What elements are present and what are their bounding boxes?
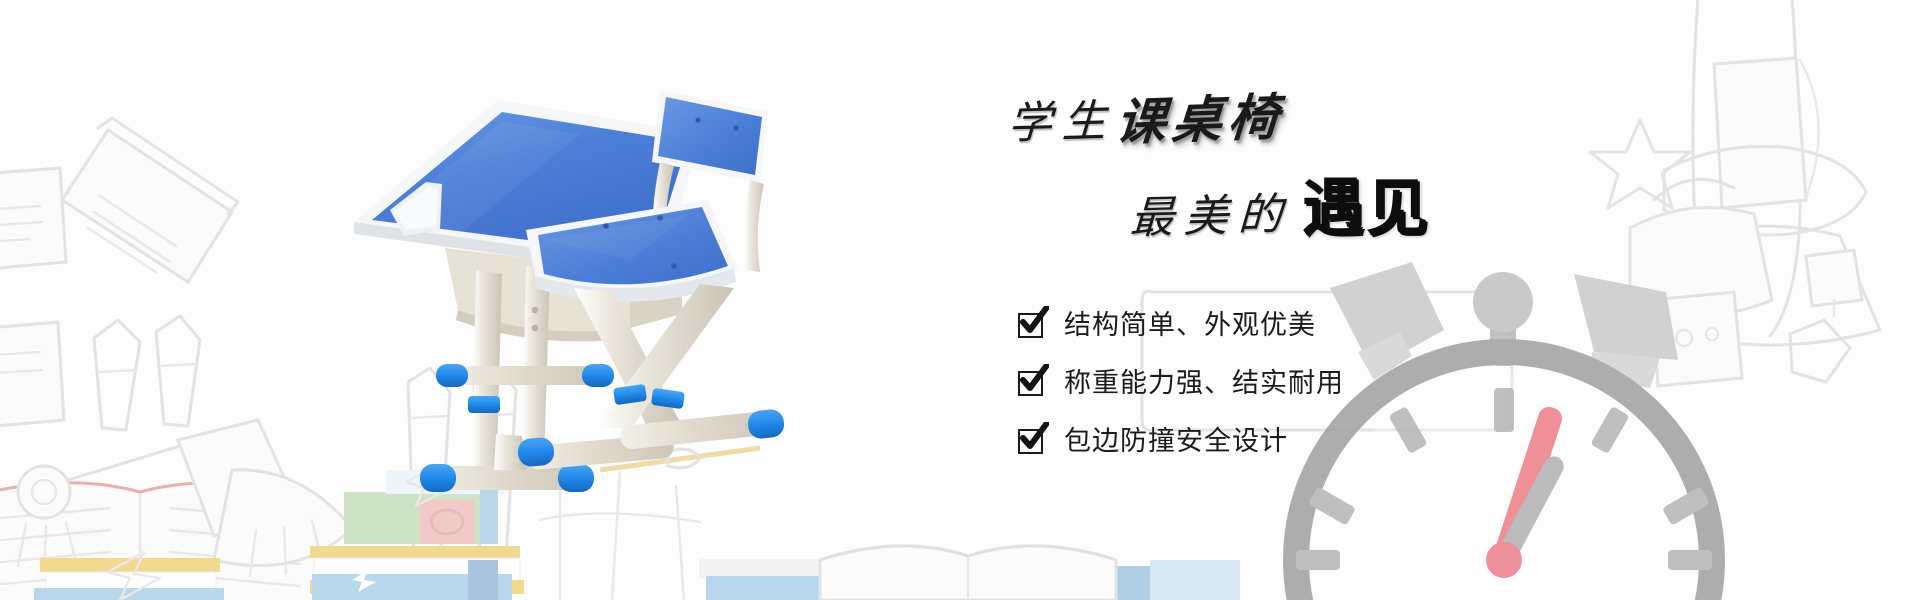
- sketch-open-book-bottomleft: [0, 483, 320, 600]
- sketch-star: [1590, 120, 1690, 208]
- headline-line2-emphasis: 遇见: [1302, 177, 1430, 239]
- list-item: 结构简单、外观优美: [1018, 303, 1538, 347]
- promo-banner: .sk { fill:none; stroke:#e3e3e3; stroke-…: [0, 0, 1920, 600]
- headline-line-2: 最美的遇见: [1130, 177, 1430, 239]
- sketch-satchel-right: [1602, 179, 1850, 386]
- feature-label: 结构简单、外观优美: [1064, 312, 1316, 339]
- checkbox-checked-icon: [1018, 369, 1046, 397]
- feature-label: 称重能力强、结实耐用: [1064, 370, 1344, 397]
- headline-line1-emphasis: 课桌椅: [1114, 92, 1286, 148]
- sketch-desk-lamp: [18, 420, 352, 576]
- check-mark-icon: [1019, 306, 1049, 336]
- check-mark-icon: [1019, 364, 1049, 394]
- background-sketch-svg: .sk { fill:none; stroke:#e3e3e3; stroke-…: [0, 0, 1920, 600]
- headline-line1-prefix: 学生: [1007, 100, 1117, 147]
- headline-line2-prefix: 最美的: [1129, 193, 1293, 241]
- sketch-backpack-right: [1650, 0, 1880, 345]
- feature-list: 结构简单、外观优美 称重能力强、结实耐用 包边防撞安全设计: [1018, 303, 1538, 477]
- checkbox-checked-icon: [1018, 427, 1046, 455]
- list-item: 称重能力强、结实耐用: [1018, 361, 1538, 405]
- sketch-notebooks-topleft: [0, 118, 238, 428]
- background-decor-layer: .sk { fill:none; stroke:#e3e3e3; stroke-…: [0, 0, 1920, 600]
- checkbox-checked-icon: [1018, 311, 1046, 339]
- desk-chair-illustration: [330, 70, 890, 520]
- headline-line-1: 学生课桌椅: [1008, 95, 1284, 145]
- list-item: 包边防撞安全设计: [1018, 419, 1538, 463]
- sketch-open-book-center: [820, 546, 1116, 600]
- product-image-desk-and-chair: [330, 70, 890, 520]
- check-mark-icon: [1019, 422, 1049, 452]
- feature-label: 包边防撞安全设计: [1064, 428, 1288, 455]
